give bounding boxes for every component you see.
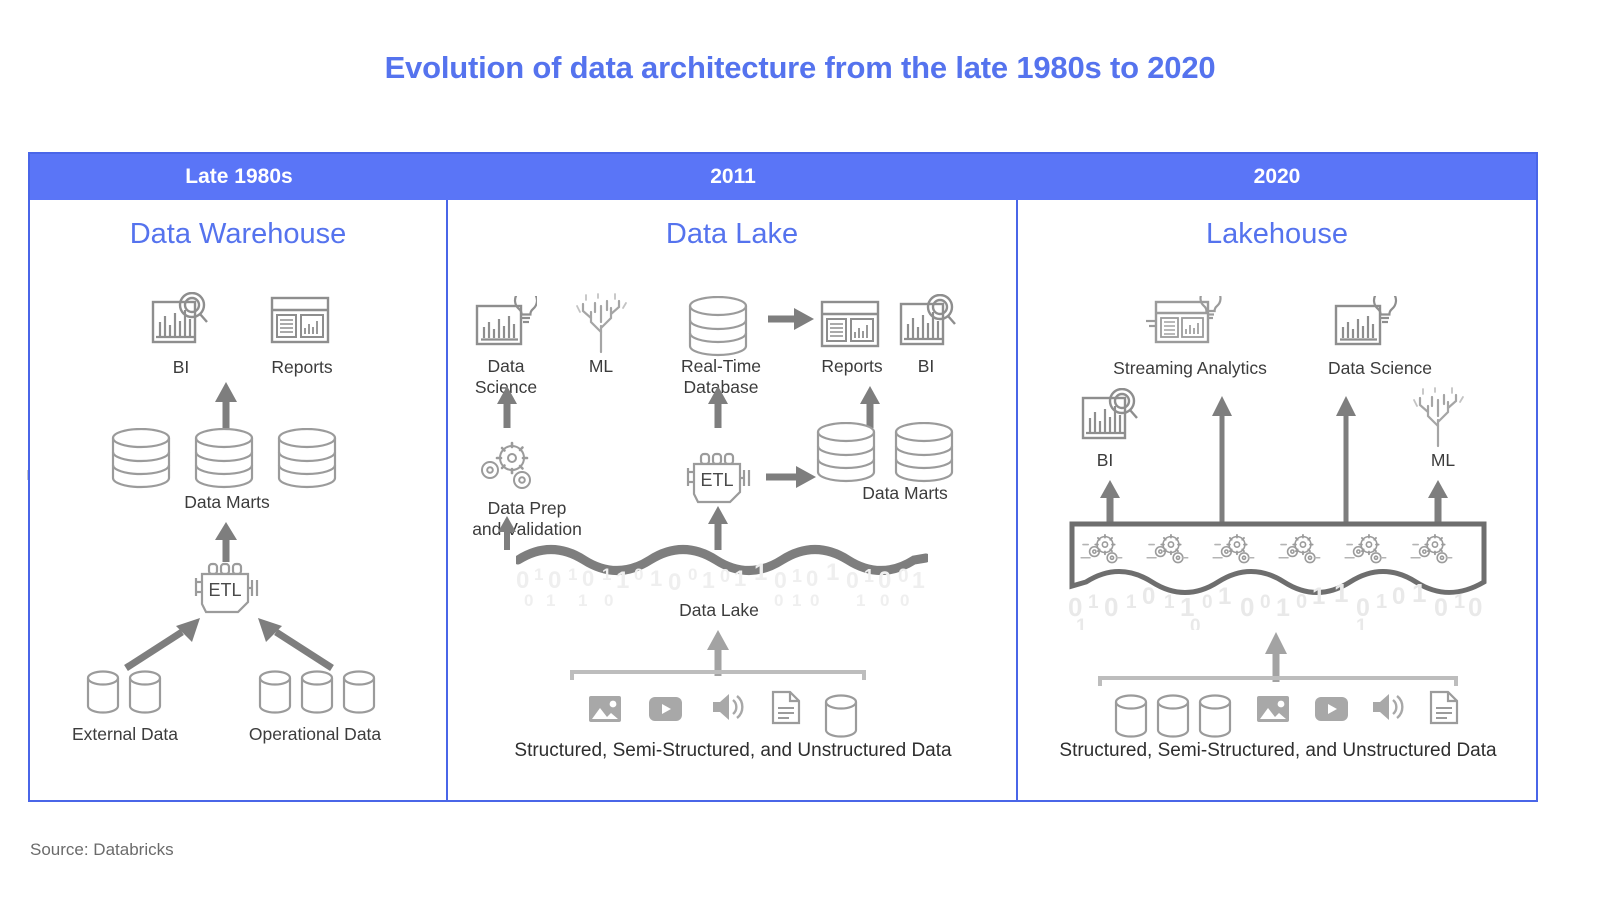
label-data-marts: Data Marts — [142, 492, 312, 513]
era-header-2020: 2020 — [1018, 154, 1536, 200]
database-cylinder-icon — [688, 296, 750, 358]
svg-text:1: 1 — [792, 566, 802, 586]
three-cylinders-icon — [342, 670, 378, 716]
bi-chart-magnifier-icon — [1080, 388, 1142, 446]
era-header-late-1980s: Late 1980s — [30, 154, 448, 200]
reports-lightbulb-icon — [1146, 296, 1222, 352]
diagram-board: Late 1980s 2011 2020 Data Warehouse BI R… — [28, 152, 1538, 802]
svg-text:0: 0 — [900, 591, 909, 610]
page-title: Evolution of data architecture from the … — [0, 50, 1600, 86]
arrow-platform-to-data-science — [1334, 396, 1358, 522]
label-data-marts: Data Marts — [820, 483, 990, 504]
column-title-lakehouse: Lakehouse — [1018, 218, 1536, 251]
arrow-platform-to-bi — [1098, 480, 1122, 522]
three-database-cylinders-icon — [277, 428, 339, 490]
svg-text:0: 0 — [1296, 591, 1307, 613]
label-reports: Reports — [806, 356, 898, 377]
label-ml: ML — [1408, 450, 1478, 471]
chart-lightbulb-icon — [1334, 296, 1400, 352]
svg-text:0: 0 — [1190, 616, 1201, 630]
bi-chart-magnifier-icon — [898, 294, 960, 352]
svg-text:1: 1 — [1334, 578, 1348, 608]
svg-text:1: 1 — [912, 567, 925, 593]
svg-text:1: 1 — [546, 591, 555, 610]
label-data-lake: Data Lake — [634, 600, 804, 621]
etl-engine-icon — [188, 558, 264, 616]
two-cylinders-icon — [86, 670, 122, 716]
svg-text:0: 0 — [1104, 592, 1118, 622]
svg-text:1: 1 — [1312, 583, 1325, 610]
svg-text:0: 0 — [582, 566, 594, 591]
svg-text:1: 1 — [534, 565, 543, 584]
svg-text:1: 1 — [1088, 592, 1099, 613]
circuit-tree-icon — [571, 292, 631, 354]
svg-text:1: 1 — [1412, 578, 1426, 608]
svg-text:1: 1 — [826, 559, 839, 586]
svg-text:1: 1 — [616, 567, 629, 594]
database-icon — [1156, 694, 1192, 740]
svg-text:0: 0 — [880, 591, 889, 610]
label-ml: ML — [566, 356, 636, 377]
document-icon — [1428, 690, 1462, 728]
svg-text:0: 0 — [1392, 583, 1405, 610]
column-title-data-lake: Data Lake — [448, 218, 1016, 251]
svg-text:0: 0 — [524, 591, 533, 610]
label-bi: BI — [891, 356, 961, 377]
label-external-data: External Data — [50, 724, 200, 745]
source-bracket-icon — [1098, 674, 1458, 688]
arrow-operational-to-etl — [248, 610, 338, 672]
svg-text:0: 0 — [1468, 592, 1482, 622]
two-cylinders-icon — [128, 670, 164, 716]
svg-text:1: 1 — [1076, 616, 1087, 630]
era-header-row: Late 1980s 2011 2020 — [30, 154, 1536, 200]
svg-text:1: 1 — [856, 591, 865, 610]
label-reports: Reports — [256, 357, 348, 378]
arrow-lake-to-prep — [496, 516, 518, 550]
svg-text:0: 0 — [878, 567, 891, 594]
svg-text:1: 1 — [578, 591, 587, 610]
svg-text:1: 1 — [1454, 591, 1465, 613]
label-bi: BI — [1070, 450, 1140, 471]
era-header-2011: 2011 — [448, 154, 1018, 200]
three-database-cylinders-icon — [194, 428, 256, 490]
three-cylinders-icon — [300, 670, 336, 716]
arrow-etl-to-real-time-database — [706, 386, 730, 428]
etl-engine-icon — [680, 448, 756, 506]
svg-text:0: 0 — [668, 569, 681, 596]
reports-window-icon — [820, 298, 882, 350]
gears-icon — [476, 438, 538, 494]
arrow-etl-to-marts — [214, 522, 238, 562]
svg-text:0: 0 — [898, 566, 909, 587]
source-bracket-icon — [570, 668, 866, 682]
svg-text:1: 1 — [650, 566, 662, 591]
svg-text:0: 0 — [774, 567, 787, 593]
image-icon — [588, 692, 624, 728]
label-streaming-analytics: Streaming Analytics — [1080, 358, 1300, 379]
database-icon — [1114, 694, 1150, 740]
label-data-prep: Data Prep and Validation — [442, 498, 612, 540]
label-operational-data: Operational Data — [222, 724, 408, 745]
svg-text:0: 0 — [516, 567, 529, 594]
arrow-external-to-etl — [120, 610, 210, 672]
svg-text:1: 1 — [1126, 592, 1137, 613]
bi-chart-magnifier-icon — [150, 292, 212, 350]
reports-window-icon — [270, 294, 332, 346]
svg-text:1: 1 — [1376, 591, 1387, 613]
document-icon — [770, 690, 804, 728]
svg-text:0: 0 — [1260, 592, 1271, 613]
svg-text:1: 1 — [754, 559, 767, 586]
column-data-warehouse: Data Warehouse BI Reports Data Marts — [30, 200, 448, 800]
svg-text:0: 0 — [548, 567, 561, 594]
video-icon — [1314, 692, 1350, 728]
svg-text:1: 1 — [1276, 594, 1290, 622]
svg-text:0: 0 — [1240, 592, 1254, 622]
two-database-cylinders-icon — [816, 422, 878, 484]
svg-text:1: 1 — [702, 567, 715, 593]
svg-text:1: 1 — [864, 566, 874, 586]
three-database-cylinders-icon — [111, 428, 173, 490]
svg-text:1: 1 — [1218, 583, 1231, 610]
image-icon — [1256, 692, 1292, 728]
three-cylinders-icon — [258, 670, 294, 716]
svg-text:0: 0 — [810, 591, 819, 610]
chart-lightbulb-icon — [475, 296, 537, 348]
svg-text:1: 1 — [602, 565, 611, 584]
audio-icon — [710, 690, 750, 728]
audio-icon — [1370, 690, 1410, 728]
svg-text:0: 0 — [604, 591, 613, 610]
arrow-marts-to-bi — [214, 382, 238, 430]
svg-text:1: 1 — [734, 566, 746, 591]
column-data-lake: Data Lake Data Science ML Real-Time Data… — [448, 200, 1018, 800]
svg-text:0: 0 — [1142, 583, 1155, 610]
svg-text:0: 0 — [634, 565, 643, 584]
columns-container: Data Warehouse BI Reports Data Marts — [30, 200, 1536, 800]
svg-text:0: 0 — [1434, 594, 1448, 622]
arrow-platform-to-streaming-analytics — [1210, 396, 1234, 522]
svg-text:0: 0 — [806, 566, 818, 591]
svg-text:0: 0 — [846, 567, 859, 593]
column-lakehouse: Lakehouse Streaming Analytics Data Scien… — [1018, 200, 1536, 800]
svg-text:0: 0 — [1202, 592, 1213, 613]
arrow-platform-to-ml — [1426, 480, 1450, 522]
svg-text:0: 0 — [688, 565, 697, 584]
two-database-cylinders-icon — [894, 422, 956, 484]
label-sources: Structured, Semi-Structured, and Unstruc… — [448, 740, 1018, 761]
svg-text:1: 1 — [1164, 592, 1175, 613]
svg-text:1: 1 — [568, 565, 577, 584]
source-attribution: Source: Databricks — [30, 840, 174, 860]
database-icon — [824, 694, 860, 740]
arrow-etl-to-data-marts — [766, 464, 818, 490]
svg-text:1: 1 — [1356, 616, 1367, 630]
gears-wave-platform-icon: 01 01 01 10 10 01 01 10 10 10 10 10 1 — [1068, 520, 1488, 630]
label-data-science: Data Science — [1290, 358, 1470, 379]
label-sources: Structured, Semi-Structured, and Unstruc… — [1018, 740, 1538, 761]
arrow-prep-to-data-science — [495, 386, 519, 428]
video-icon — [648, 692, 684, 728]
circuit-tree-icon — [1408, 386, 1468, 448]
arrow-db-to-reports — [768, 306, 816, 332]
svg-text:0: 0 — [720, 566, 730, 586]
database-icon — [1198, 694, 1234, 740]
label-bi: BI — [136, 357, 226, 378]
column-title-data-warehouse: Data Warehouse — [30, 218, 446, 251]
